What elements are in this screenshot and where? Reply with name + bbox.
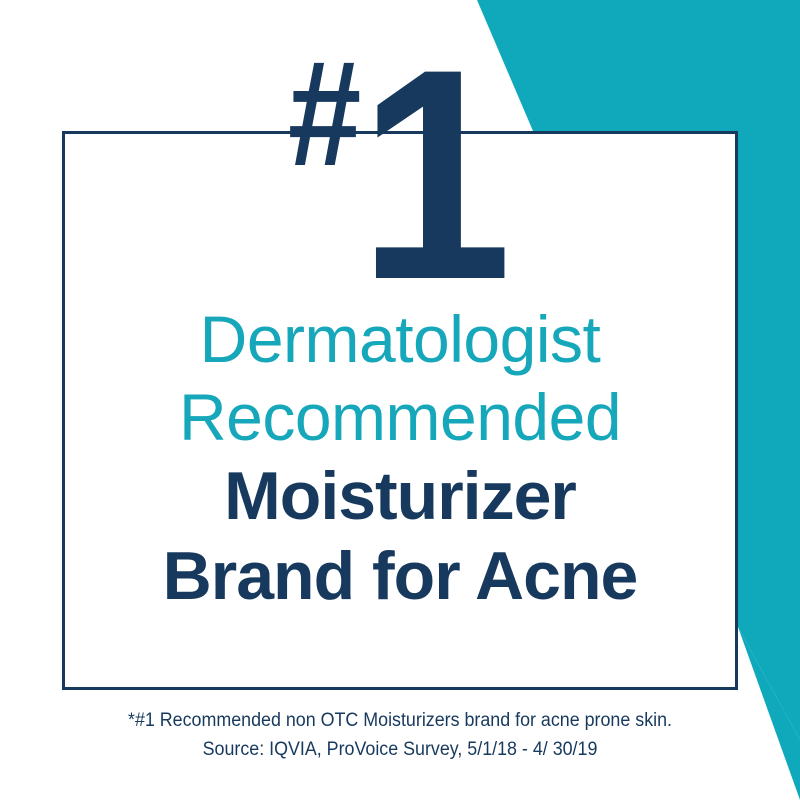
rank-badge: #1 [0,24,800,324]
rank-number: 1 [359,24,511,324]
headline-line-moisturizer: Moisturizer [62,456,738,536]
hash-symbol: # [288,38,360,188]
footnote-claim: *#1 Recommended non OTC Moisturizers bra… [82,706,717,735]
headline-line-dermatologist: Dermatologist [62,300,738,378]
promo-poster: #1 Dermatologist Recommended Moisturizer… [0,0,800,800]
headline-block: Dermatologist Recommended Moisturizer Br… [62,300,738,616]
footnote-block: *#1 Recommended non OTC Moisturizers bra… [62,706,738,764]
headline-line-recommended: Recommended [62,378,738,456]
footnote-source: Source: IQVIA, ProVoice Survey, 5/1/18 -… [82,735,717,764]
headline-line-brand-for-acne: Brand for Acne [62,536,738,616]
